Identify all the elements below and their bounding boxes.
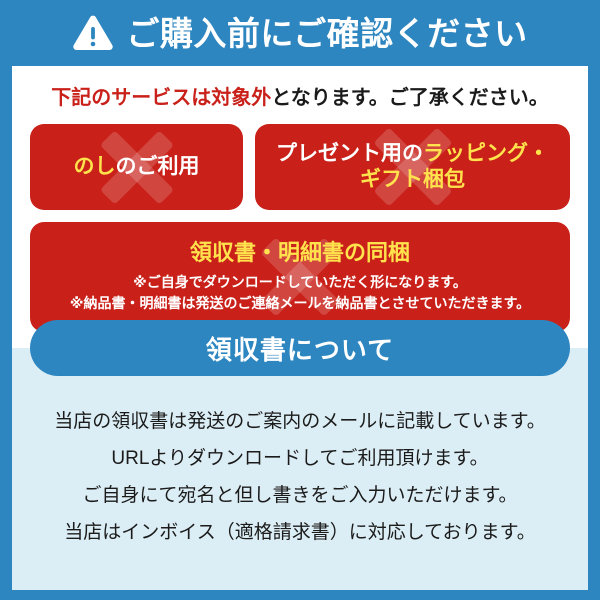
exclusions-panel: 下記のサービスは対象外となります。ご了承ください。 のしのご利用 — [12, 66, 588, 348]
exclusion-box-receipt-text: 領収書・明細書の同梱 ※ご自身でダウンロードしていただく形になります。 ※納品書… — [70, 239, 530, 315]
lead-highlight: 下記のサービスは対象外 — [51, 87, 271, 109]
exclusion-box-receipt-title: 領収書・明細書の同梱 — [70, 239, 530, 267]
exclusion-box-noshi: のしのご利用 — [30, 124, 243, 210]
receipt-banner-title: 領収書について — [206, 330, 394, 367]
exclusion-box-receipt-note: ※ご自身でダウンロードしていただく形になります。 — [70, 272, 530, 294]
receipt-info-line: URLよりダウンロードしてご利用頂けます。 — [111, 448, 488, 471]
exclusion-box-receipt-note: ※納品書・明細書は発送のご連絡メールを納品書とさせていただきます。 — [70, 293, 530, 315]
exclusion-line: のしのご利用 — [74, 154, 200, 180]
exclusion-box-receipt: 領収書・明細書の同梱 ※ご自身でダウンロードしていただく形になります。 ※納品書… — [30, 222, 570, 332]
exclusion-line-white: のご利用 — [116, 155, 200, 178]
lead-text: 下記のサービスは対象外となります。ご了承ください。 — [30, 86, 570, 110]
poster-header: ご購入前にご確認ください — [12, 0, 588, 66]
exclusion-line-yellow: ラッピング・ — [423, 142, 549, 165]
exclusion-line-white: プレゼント用の — [276, 142, 423, 165]
exclusion-line: ギフト梱包 — [276, 167, 549, 193]
receipt-info-line: ご自身にて宛名と但し書きをご入力いただけます。 — [82, 485, 517, 508]
exclusion-box-gift-wrapping-text: プレゼント用のラッピング・ ギフト梱包 — [276, 141, 549, 194]
lead-rest: となります。ご了承ください。 — [271, 87, 548, 109]
receipt-info-line: 当店の領収書は発送のご案内のメールに記載しています。 — [54, 411, 546, 434]
exclusion-box-row: のしのご利用 プレゼント用のラッピング・ ギフト梱包 — [30, 124, 570, 210]
warning-triangle-icon — [72, 14, 114, 52]
header-title: ご購入前にご確認ください — [126, 17, 527, 50]
notice-poster: ご購入前にご確認ください 下記のサービスは対象外となります。ご了承ください。 の… — [0, 0, 600, 600]
exclusion-line-yellow: のし — [74, 155, 116, 178]
exclusion-box-gift-wrapping: プレゼント用のラッピング・ ギフト梱包 — [255, 124, 570, 210]
exclusion-line: プレゼント用のラッピング・ — [276, 141, 549, 167]
receipt-banner: 領収書について — [30, 320, 570, 376]
exclusion-line-yellow: ギフト梱包 — [360, 168, 465, 191]
receipt-info-line: 当店はインボイス（適格請求書）に対応しております。 — [64, 522, 535, 545]
exclusion-box-noshi-text: のしのご利用 — [74, 154, 200, 180]
receipt-info-panel: 当店の領収書は発送のご案内のメールに記載しています。 URLよりダウンロードして… — [12, 348, 588, 590]
